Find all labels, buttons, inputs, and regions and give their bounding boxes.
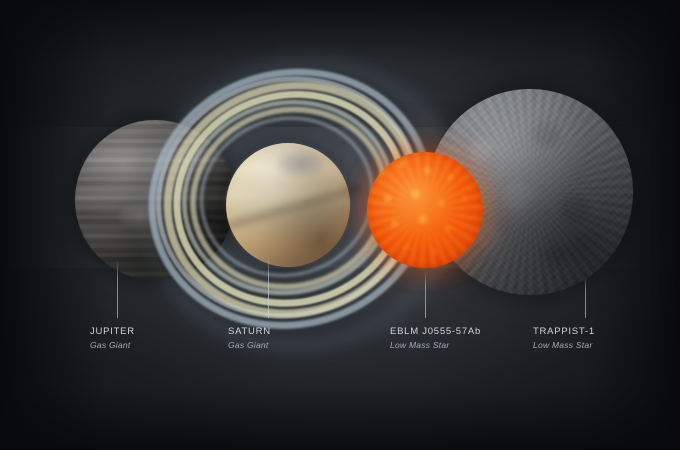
label-trappist-subtitle: Low Mass Star <box>533 339 595 351</box>
saturn-polar-cap <box>276 150 326 177</box>
label-saturn: SATURN Gas Giant <box>228 326 271 351</box>
label-jupiter: JUPITER Gas Giant <box>90 326 135 351</box>
label-eblm-name: EBLM J0555-57Ab <box>390 326 481 338</box>
eblm-corona-glow <box>345 130 505 290</box>
label-trappist-name: TRAPPIST-1 <box>533 326 595 338</box>
star-eblm-j0555-57ab <box>367 152 483 268</box>
leader-line-jupiter <box>117 262 118 318</box>
label-jupiter-name: JUPITER <box>90 326 135 338</box>
leader-line-trappist <box>585 278 586 318</box>
leader-line-saturn <box>268 258 269 318</box>
label-saturn-name: SATURN <box>228 326 271 338</box>
leader-line-eblm <box>425 272 426 318</box>
label-saturn-subtitle: Gas Giant <box>228 339 271 351</box>
label-jupiter-subtitle: Gas Giant <box>90 339 135 351</box>
label-trappist: TRAPPIST-1 Low Mass Star <box>533 326 595 351</box>
label-eblm-subtitle: Low Mass Star <box>390 339 481 351</box>
size-comparison-figure: JUPITER Gas Giant SATURN Gas Giant EBLM … <box>0 0 680 450</box>
label-eblm: EBLM J0555-57Ab Low Mass Star <box>390 326 481 351</box>
